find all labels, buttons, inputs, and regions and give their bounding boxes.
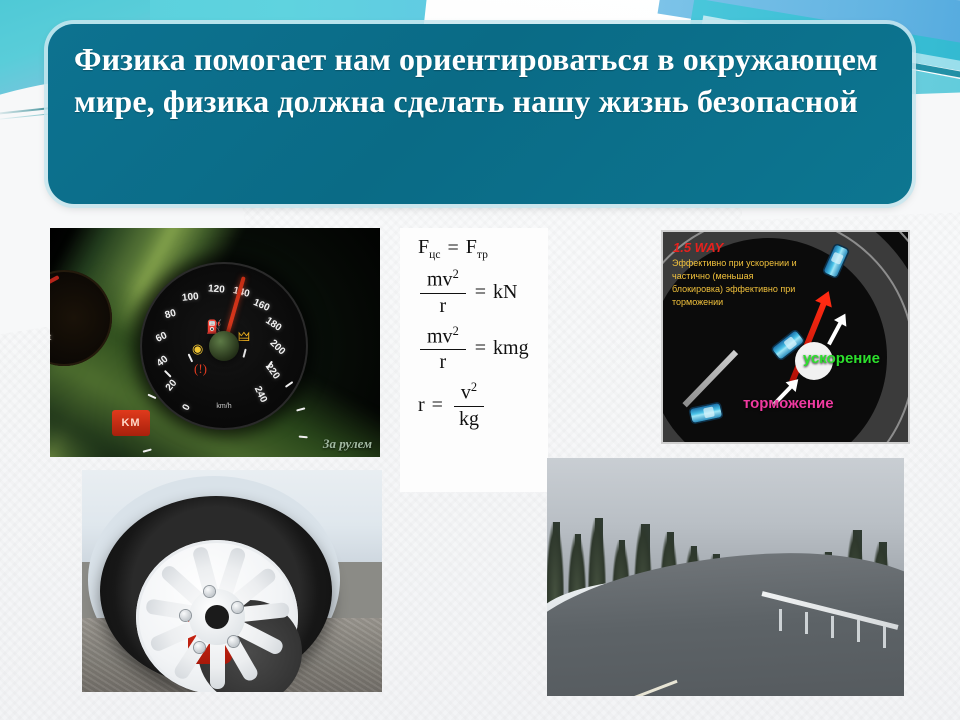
speed-label-120: 120 xyxy=(208,283,225,295)
tire xyxy=(100,496,332,686)
speed-label-40: 40 xyxy=(155,354,171,370)
label-acceleration: ускорение xyxy=(803,350,880,367)
lug-nut xyxy=(194,642,205,653)
odometer-badge: KM xyxy=(112,410,150,436)
alloy-rim xyxy=(136,540,298,692)
speed-label-180: 180 xyxy=(263,315,283,333)
secondary-gauge-redline xyxy=(50,275,60,289)
lug-nut xyxy=(232,602,243,613)
formula-2-fraction: mv2 r xyxy=(420,267,466,318)
formula-4-numerator: v2 xyxy=(454,380,484,407)
formula-4-lhs: r xyxy=(418,394,425,417)
lug-nut xyxy=(204,586,215,597)
temperature-icon: t xyxy=(50,332,51,343)
equals-sign: = xyxy=(475,337,486,360)
tick xyxy=(223,349,247,431)
formula-1-lhs: Fцс xyxy=(418,236,440,261)
speed-label-80: 80 xyxy=(164,308,178,322)
formula-panel: Fцс = Fтр mv2 r = kN mv2 r = kmg r = v2 xyxy=(400,228,548,492)
formula-2-rhs: kN xyxy=(493,281,517,304)
formula-3-rhs: kmg xyxy=(493,337,529,360)
guardrail-post xyxy=(857,620,860,642)
speed-label-200: 200 xyxy=(268,338,288,358)
lug-nut xyxy=(180,610,191,621)
formula-4-denominator: kg xyxy=(452,407,486,431)
speedometer-dial: 0 20 40 60 80 100 120 140 160 180 200 22… xyxy=(140,262,308,430)
formula-2: mv2 r = kN xyxy=(418,267,548,318)
unit-label: km/h xyxy=(216,403,231,410)
needle-hub xyxy=(209,331,239,361)
diagram-title: 1.5 WAY xyxy=(673,240,723,255)
guardrail-post xyxy=(883,626,886,648)
equals-sign: = xyxy=(447,237,458,260)
lug-nut xyxy=(228,636,239,647)
photo-watermark: За рулем xyxy=(323,436,372,452)
formula-3-denominator: r xyxy=(433,350,454,374)
formula-3-fraction: mv2 r xyxy=(420,324,466,375)
lsd-diagram-image: 1.5 WAY Эффективно при ускорении и части… xyxy=(663,232,908,442)
equals-sign: = xyxy=(432,394,443,417)
brake-lamp-icon: (!) xyxy=(194,362,207,375)
label-braking: торможение xyxy=(743,395,834,412)
diagram-description: Эффективно при ускорении и частично (мен… xyxy=(672,257,800,309)
speed-label-220: 220 xyxy=(263,362,282,382)
road-edge-line xyxy=(547,680,678,696)
formula-4: r = v2 kg xyxy=(418,380,548,431)
equals-sign: = xyxy=(475,281,486,304)
page-title: Физика помогает нам ориентироваться в ок… xyxy=(74,38,886,122)
formula-2-numerator: mv2 xyxy=(420,267,466,294)
formula-2-denominator: r xyxy=(433,294,454,318)
speed-label-100: 100 xyxy=(181,291,199,304)
speed-label-160: 160 xyxy=(251,297,271,314)
formula-4-fraction: v2 kg xyxy=(452,380,486,431)
formula-1: Fцс = Fтр xyxy=(418,236,548,261)
seatbelt-lamp-icon: 🜲 xyxy=(238,330,250,343)
winter-road-photo xyxy=(547,458,904,696)
slide-canvas: Физика помогает нам ориентироваться в ок… xyxy=(0,0,960,720)
hub-bore xyxy=(205,605,229,629)
formula-1-rhs: Fтр xyxy=(466,236,488,261)
speed-label-60: 60 xyxy=(154,330,169,345)
formula-3: mv2 r = kmg xyxy=(418,324,548,375)
wheel-photo xyxy=(82,470,382,692)
title-box: Физика помогает нам ориентироваться в ок… xyxy=(48,24,912,204)
guardrail-post xyxy=(805,612,808,634)
guardrail-post xyxy=(779,609,782,631)
formula-3-numerator: mv2 xyxy=(420,324,466,351)
speed-label-20: 20 xyxy=(164,378,180,394)
speedometer-photo: 120 t 0 20 40 60 80 100 120 140 160 xyxy=(50,228,380,457)
guardrail-post xyxy=(831,616,834,638)
abs-lamp-icon: ◉ xyxy=(192,342,203,355)
